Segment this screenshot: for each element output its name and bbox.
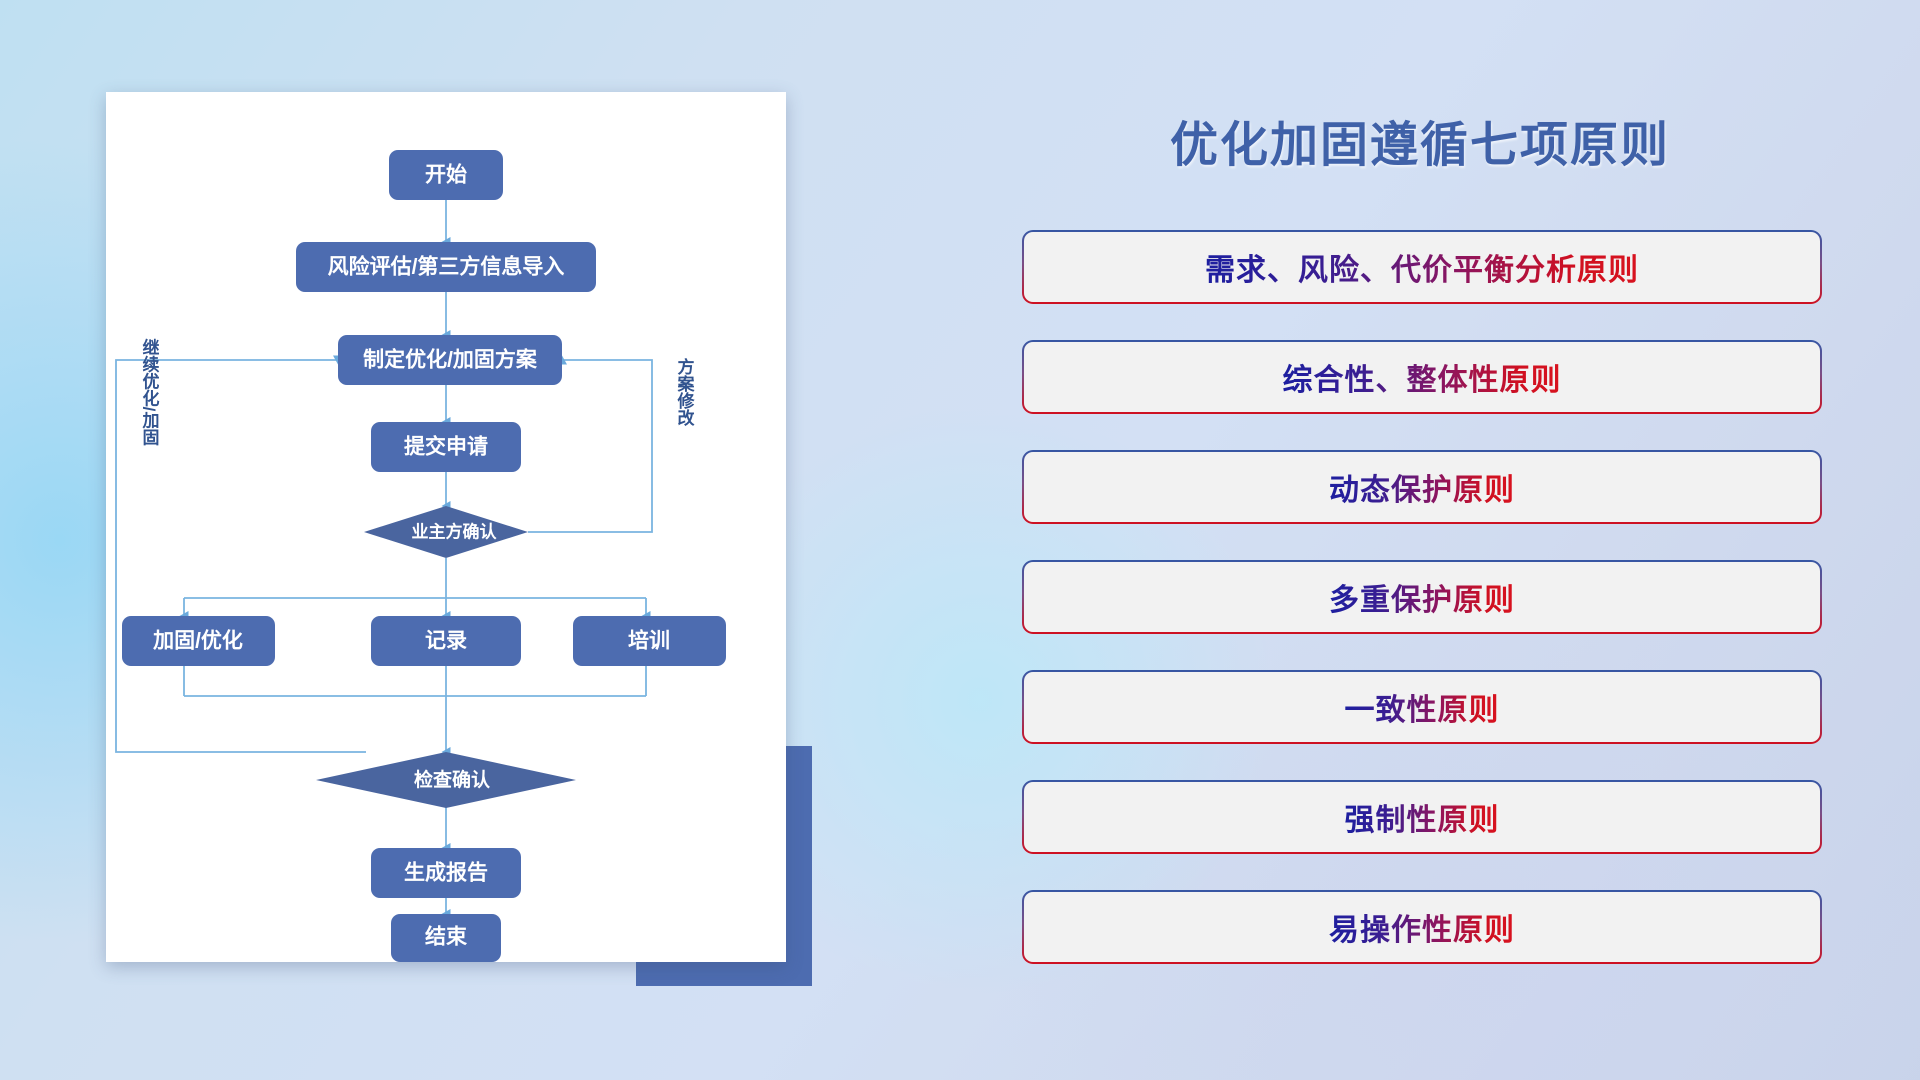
principle-card-2-inner: 综合性、整体性原则 <box>1024 342 1820 412</box>
principle-card-3-label: 动态保护原则 <box>1329 465 1515 509</box>
principle-card-4-label: 多重保护原则 <box>1329 575 1515 619</box>
flow-node-end-label: 结束 <box>425 925 468 949</box>
flow-node-reinforce[interactable]: 加固/优化 <box>122 616 275 666</box>
principle-card-2[interactable]: 综合性、整体性原则 <box>1022 340 1822 414</box>
flow-node-risk[interactable]: 风险评估/第三方信息导入 <box>296 242 596 292</box>
flowchart-card: 开始 风险评估/第三方信息导入 制定优化/加固方案 提交申请 业主方确认 <box>106 92 786 962</box>
principle-card-2-label: 综合性、整体性原则 <box>1283 355 1562 399</box>
flow-node-owner-confirm-label: 业主方确认 <box>412 521 498 541</box>
principle-card-1[interactable]: 需求、风险、代价平衡分析原则 <box>1022 230 1822 304</box>
principles-list: 需求、风险、代价平衡分析原则 综合性、整体性原则 动态保护原则 多重保护原则 一… <box>1022 230 1822 1000</box>
flow-node-start-label: 开始 <box>425 163 467 187</box>
flow-node-check-label: 检查确认 <box>414 768 490 791</box>
principle-card-5[interactable]: 一致性原则 <box>1022 670 1822 744</box>
flow-node-plan-label: 制定优化/加固方案 <box>363 348 538 372</box>
principle-card-5-label: 一致性原则 <box>1345 685 1500 729</box>
flow-node-end[interactable]: 结束 <box>391 914 501 962</box>
principle-card-4[interactable]: 多重保护原则 <box>1022 560 1822 634</box>
principle-card-1-label: 需求、风险、代价平衡分析原则 <box>1205 245 1639 289</box>
principles-title: 优化加固遵循七项原则 <box>1020 105 1820 175</box>
flow-node-report[interactable]: 生成报告 <box>371 848 521 898</box>
principle-card-3-inner: 动态保护原则 <box>1024 452 1820 522</box>
edge-right-loop-to-plan <box>528 360 652 532</box>
flow-node-owner-confirm[interactable]: 业主方确认 <box>364 506 528 558</box>
flow-node-training-label: 培训 <box>628 629 670 653</box>
principle-card-5-inner: 一致性原则 <box>1024 672 1820 742</box>
principle-card-1-inner: 需求、风险、代价平衡分析原则 <box>1024 232 1820 302</box>
principle-card-4-inner: 多重保护原则 <box>1024 562 1820 632</box>
edge-label-plan-revision: 方案修改 <box>675 357 696 427</box>
flow-node-record-label: 记录 <box>425 630 467 653</box>
flow-node-check[interactable]: 检查确认 <box>316 752 576 808</box>
flowchart-diagram: 开始 风险评估/第三方信息导入 制定优化/加固方案 提交申请 业主方确认 <box>106 92 786 962</box>
edge-label-continue-optimize: 继续优化/加固 <box>140 338 161 447</box>
principle-card-6-inner: 强制性原则 <box>1024 782 1820 852</box>
flow-node-start[interactable]: 开始 <box>389 150 503 200</box>
flow-node-report-label: 生成报告 <box>404 861 488 885</box>
flow-node-submit[interactable]: 提交申请 <box>371 422 521 472</box>
principle-card-3[interactable]: 动态保护原则 <box>1022 450 1822 524</box>
flow-node-plan[interactable]: 制定优化/加固方案 <box>338 335 562 385</box>
principle-card-6[interactable]: 强制性原则 <box>1022 780 1822 854</box>
principle-card-7-inner: 易操作性原则 <box>1024 892 1820 962</box>
flow-node-reinforce-label: 加固/优化 <box>152 629 243 653</box>
principle-card-6-label: 强制性原则 <box>1345 795 1500 839</box>
principle-card-7[interactable]: 易操作性原则 <box>1022 890 1822 964</box>
principle-card-7-label: 易操作性原则 <box>1329 905 1515 949</box>
flow-node-record[interactable]: 记录 <box>371 616 521 666</box>
flow-node-training[interactable]: 培训 <box>573 616 726 666</box>
slide-canvas: 开始 风险评估/第三方信息导入 制定优化/加固方案 提交申请 业主方确认 <box>0 0 1920 1080</box>
flow-node-submit-label: 提交申请 <box>404 435 488 459</box>
flow-node-risk-label: 风险评估/第三方信息导入 <box>328 255 565 279</box>
